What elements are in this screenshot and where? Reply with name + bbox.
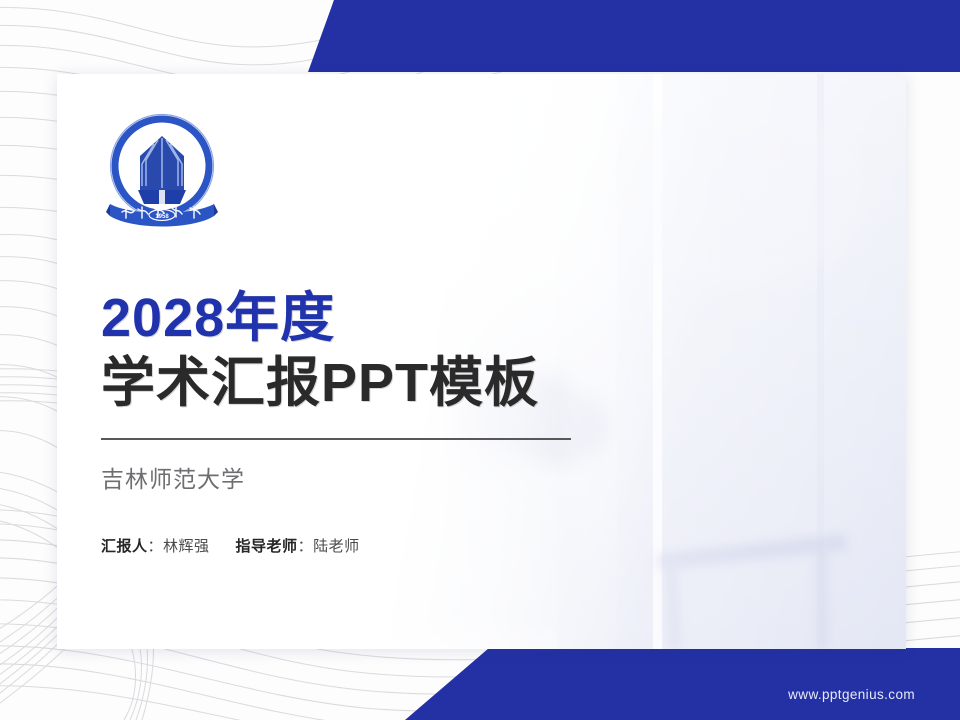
blue-shape-top-right — [308, 0, 960, 72]
presenter-label: 汇报人 — [101, 538, 148, 555]
svg-text:1958: 1958 — [155, 214, 169, 220]
footer-website-url[interactable]: www.pptgenius.com — [788, 687, 915, 702]
presentation-cover-slide: JILIN NORMAL UNIVERSITY — [0, 0, 960, 720]
organization-name: 吉林师范大学 — [101, 460, 661, 494]
title-main: 学术汇报PPT模板 — [101, 355, 661, 412]
advisor-name: 陆老师 — [313, 538, 360, 555]
title-block: 2028年度 学术汇报PPT模板 吉林师范大学 汇报人：林辉强指导老师：陆老师 — [101, 290, 661, 556]
presenter-colon: ： — [148, 538, 164, 555]
presenter-name: 林辉强 — [163, 538, 210, 555]
title-divider — [101, 438, 571, 440]
advisor-label: 指导老师 — [236, 538, 298, 555]
university-logo-icon: JILIN NORMAL UNIVERSITY — [104, 112, 220, 232]
byline: 汇报人：林辉强指导老师：陆老师 — [101, 535, 661, 556]
title-year: 2028年度 — [101, 290, 661, 347]
advisor-colon: ： — [298, 538, 314, 555]
content-card: JILIN NORMAL UNIVERSITY — [57, 74, 906, 649]
